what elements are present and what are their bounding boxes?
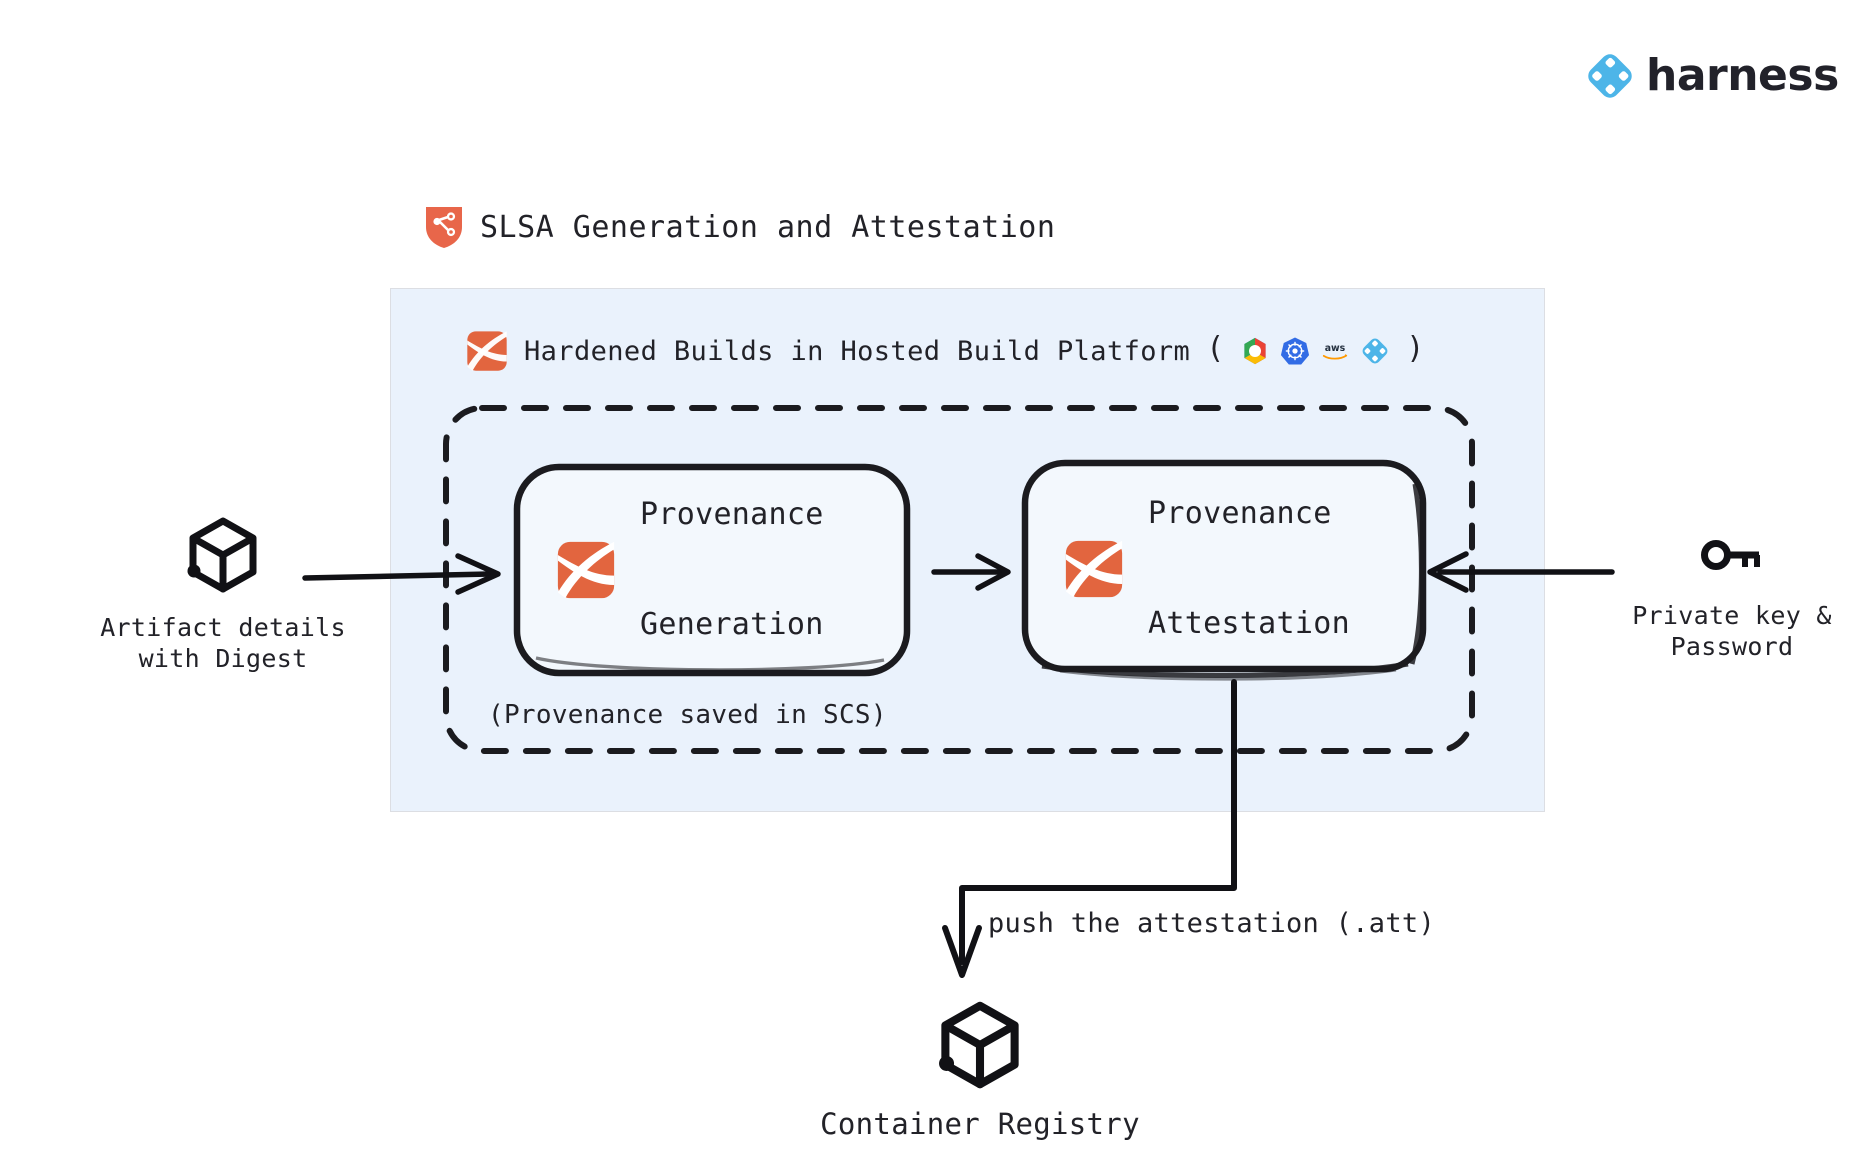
- cube-icon: [937, 1000, 1023, 1090]
- paren-open: (: [1206, 334, 1224, 364]
- harness-product-icon: [466, 330, 508, 372]
- private-key-caption: Private key & Password: [1632, 600, 1832, 663]
- artifact-node: Artifact details with Digest: [88, 516, 358, 675]
- slsa-shield-icon: [424, 205, 464, 249]
- harness-brand-logo: harness: [1584, 50, 1839, 102]
- push-attestation-label: push the attestation (.att): [988, 908, 1435, 939]
- step-label: Provenance Attestation: [1148, 423, 1350, 716]
- cube-icon: [186, 516, 260, 594]
- google-cloud-icon: [1240, 336, 1270, 366]
- harness-icon: [1360, 336, 1390, 366]
- scs-caption: (Provenance saved in SCS): [488, 700, 887, 730]
- section-title-text: SLSA Generation and Attestation: [480, 210, 1055, 245]
- harness-diamond-logo-icon: [1584, 50, 1636, 102]
- vendor-icon-row: aws: [1240, 336, 1390, 366]
- artifact-caption: Artifact details with Digest: [100, 612, 346, 675]
- container-registry-caption: Container Registry: [820, 1106, 1140, 1142]
- kubernetes-icon: [1280, 336, 1310, 366]
- section-title: SLSA Generation and Attestation: [424, 205, 1055, 249]
- harness-product-icon: [556, 540, 616, 600]
- harness-product-icon: [1064, 539, 1124, 599]
- platform-header: Hardened Builds in Hosted Build Platform…: [466, 330, 1424, 372]
- step-content: Provenance Generation: [512, 424, 824, 717]
- container-registry-node: Container Registry: [800, 1000, 1160, 1142]
- diagram-canvas: harness SLSA Generation and Attestation: [0, 0, 1862, 1172]
- paren-close: ): [1406, 334, 1424, 364]
- provenance-attestation-box[interactable]: Provenance Attestation: [1020, 458, 1428, 680]
- step-content: Provenance Attestation: [1020, 423, 1350, 716]
- private-key-node: Private key & Password: [1632, 538, 1832, 663]
- step-label-line2: Generation: [640, 607, 824, 644]
- svg-text:aws: aws: [1325, 343, 1346, 354]
- step-label: Provenance Generation: [640, 424, 824, 717]
- step-label-line2: Attestation: [1148, 606, 1350, 643]
- brand-name: harness: [1646, 54, 1839, 98]
- key-icon: [1700, 538, 1764, 578]
- aws-icon: aws: [1320, 336, 1350, 366]
- step-label-line1: Provenance: [1148, 496, 1350, 533]
- step-label-line1: Provenance: [640, 497, 824, 534]
- platform-header-text: Hardened Builds in Hosted Build Platform: [524, 336, 1190, 367]
- provenance-generation-box[interactable]: Provenance Generation: [512, 462, 912, 678]
